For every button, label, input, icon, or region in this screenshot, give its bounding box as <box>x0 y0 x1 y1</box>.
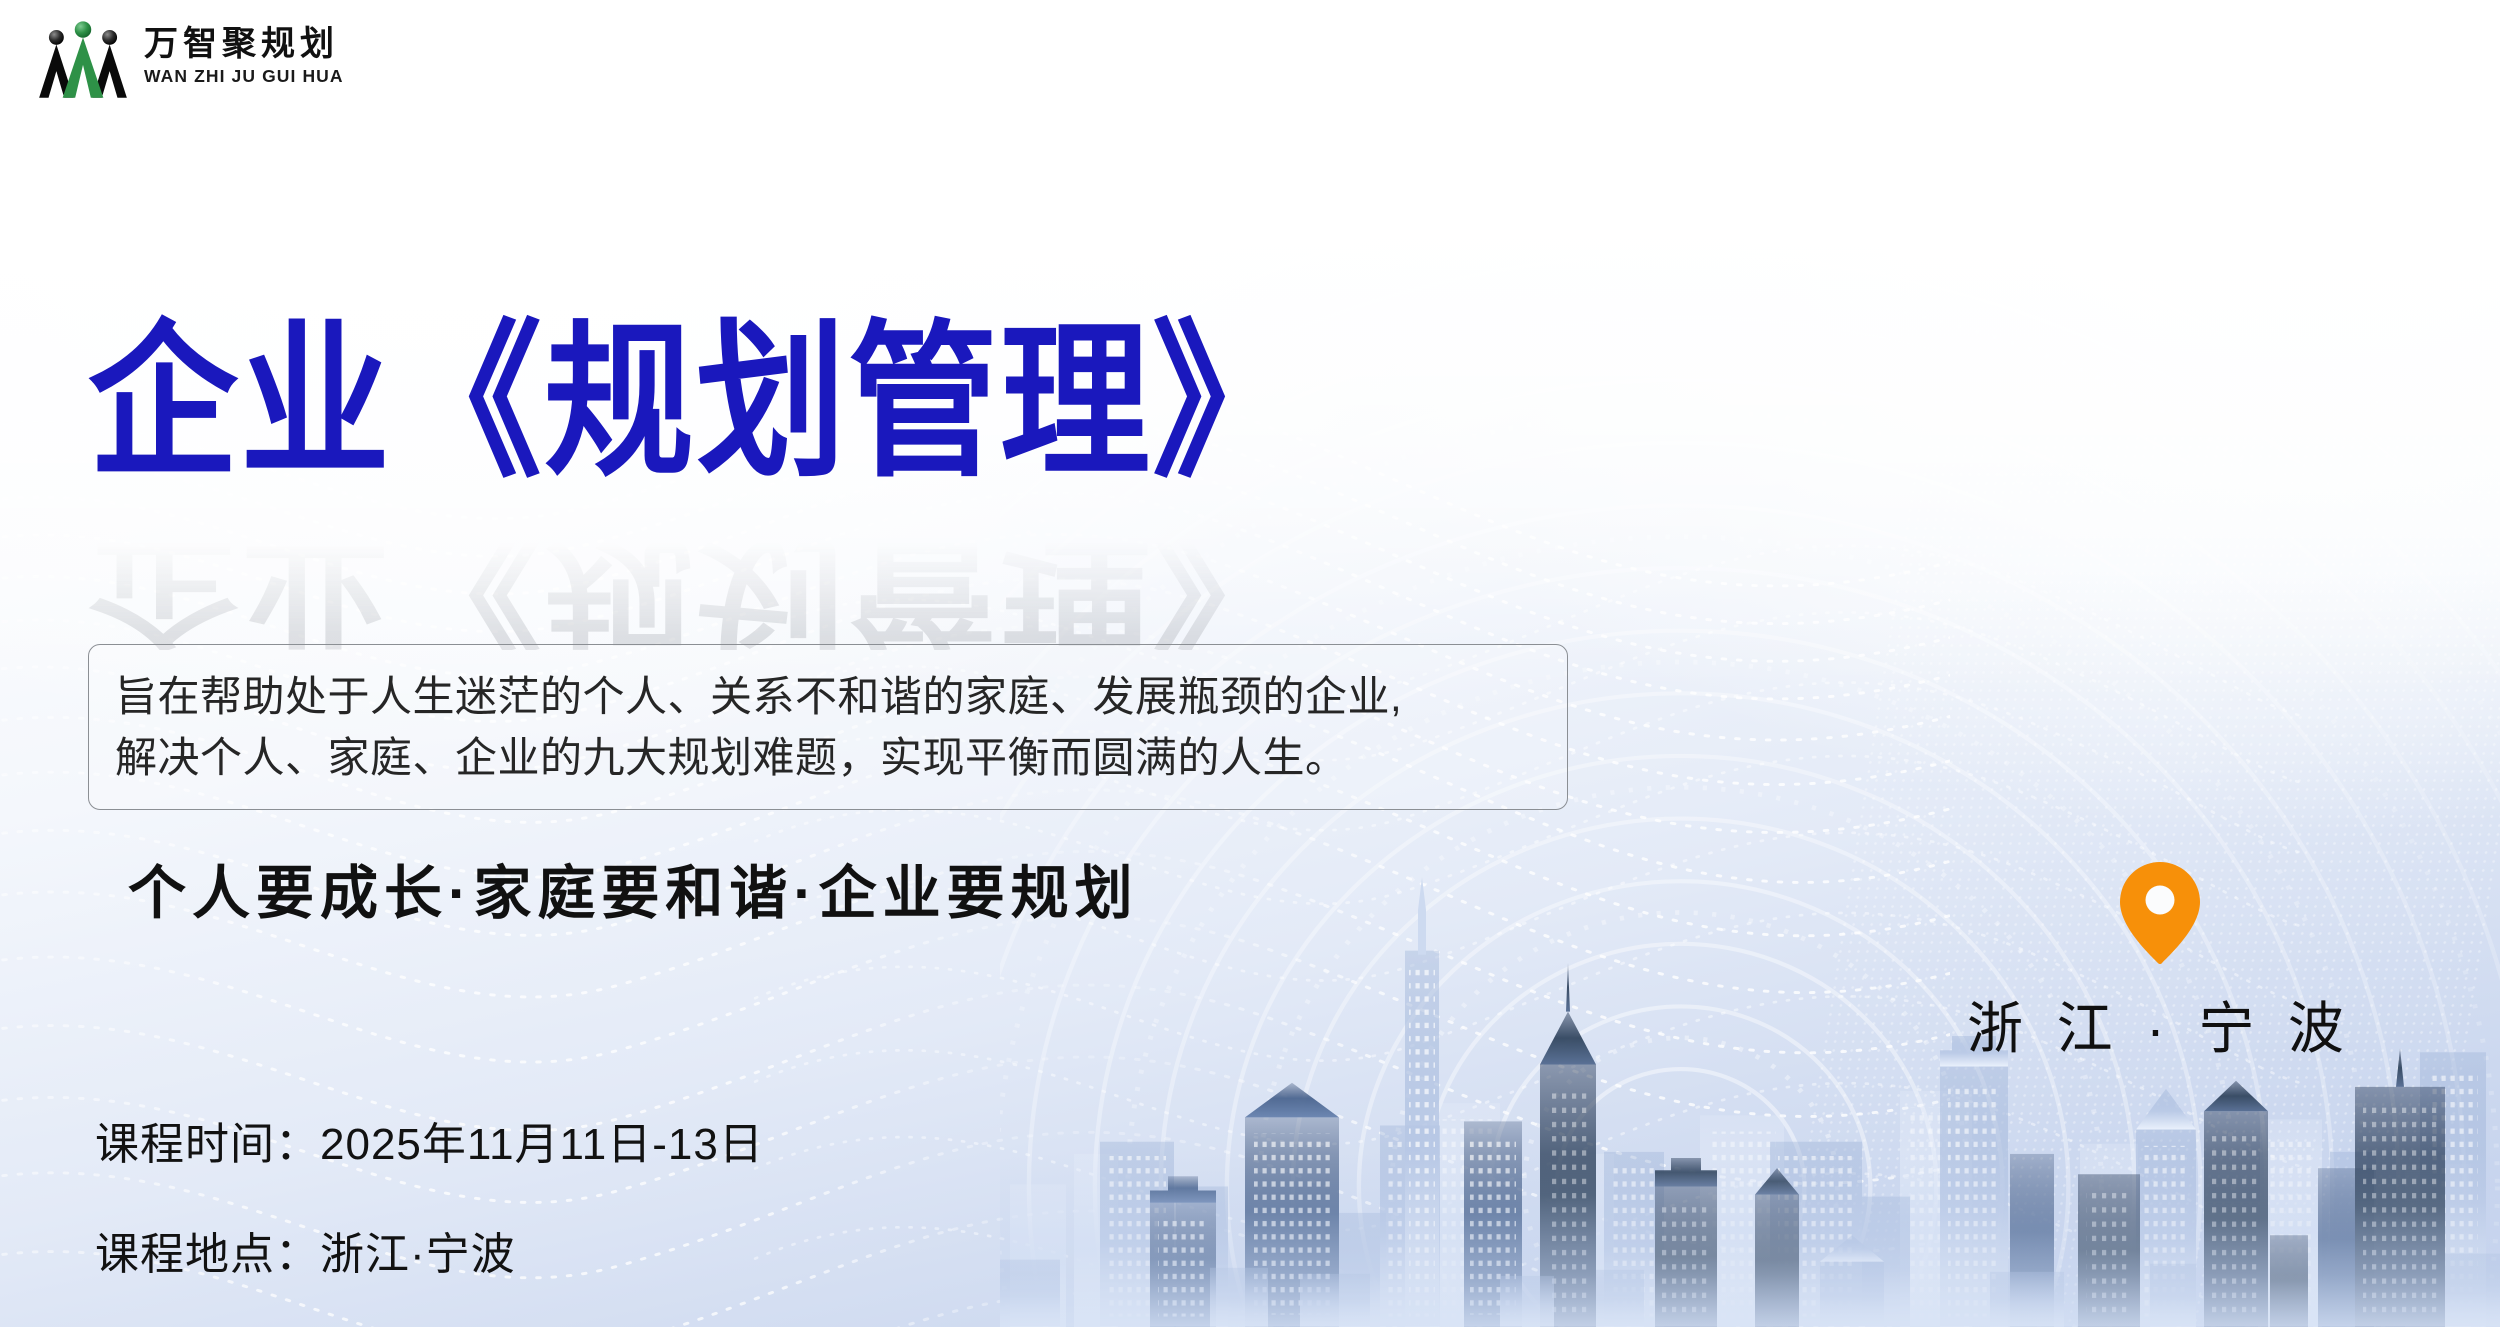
page-title-reflection: 企业《规划管理》 <box>88 533 1304 650</box>
poster-canvas: 万智聚规划 WAN ZHI JU GUI HUA 企业《规划管理》 企业《规划管… <box>0 0 2500 1327</box>
course-info: 课程时间：2025年11月11日-13日 课程地点：浙江·宁波 <box>95 1108 764 1282</box>
description-line-2: 解决个人、家庭、企业的九大规划难题，实现平衡而圆满的人生。 <box>115 728 1541 789</box>
brand-name-pinyin: WAN ZHI JU GUI HUA <box>144 66 344 87</box>
course-time: 课程时间：2025年11月11日-13日 <box>95 1108 764 1172</box>
tagline: 个人要成长·家庭要和谐·企业要规划 <box>128 846 1139 930</box>
course-place: 课程地点：浙江·宁波 <box>95 1218 764 1282</box>
brand-logo-text: 万智聚规划 WAN ZHI JU GUI HUA <box>144 27 344 88</box>
brand-name-cn: 万智聚规划 <box>144 27 344 63</box>
location-label: 浙 江 · 宁 波 <box>1960 984 2360 1065</box>
description-line-1: 旨在帮助处于人生迷茫的个人、关系不和谐的家庭、发展瓶颈的企业, <box>115 667 1541 728</box>
map-pin-icon <box>2117 860 2203 966</box>
location-badge: 浙 江 · 宁 波 <box>1960 860 2360 1065</box>
description-box: 旨在帮助处于人生迷茫的个人、关系不和谐的家庭、发展瓶颈的企业, 解决个人、家庭、… <box>88 644 1568 810</box>
three-people-mountain-logo-icon <box>36 16 130 98</box>
brand-logo[interactable]: 万智聚规划 WAN ZHI JU GUI HUA <box>36 16 344 98</box>
page-title: 企业《规划管理》 <box>88 318 1304 486</box>
hero-title-block: 企业《规划管理》 企业《规划管理》 <box>88 318 1304 618</box>
